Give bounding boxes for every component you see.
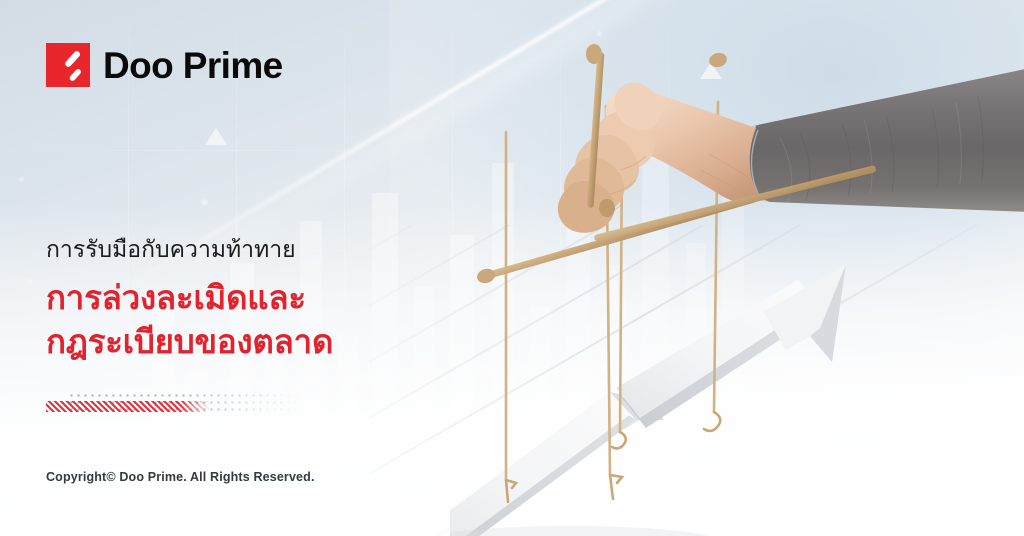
hero-subtitle: การรับมือกับความท้าทาย	[46, 236, 296, 265]
divider-red-hatch	[46, 401, 210, 412]
hero-headline: การล่วงละเมิดและ กฎระเบียบของตลาด	[46, 276, 333, 363]
content-layer: Doo Prime การรับมือกับความท้าทาย การล่วง…	[0, 0, 1024, 536]
banner-root: Doo Prime การรับมือกับความท้าทาย การล่วง…	[0, 0, 1024, 536]
brand-name: Doo Prime	[103, 47, 283, 84]
hero-headline-line-1: การล่วงละเมิดและ	[46, 276, 333, 320]
hero-headline-line-2: กฎระเบียบของตลาด	[46, 320, 333, 364]
doo-prime-mark-icon	[46, 43, 90, 87]
decorative-divider	[46, 392, 304, 414]
brand-logo[interactable]: Doo Prime	[46, 43, 283, 87]
copyright-text: Copyright© Doo Prime. All Rights Reserve…	[46, 470, 315, 484]
